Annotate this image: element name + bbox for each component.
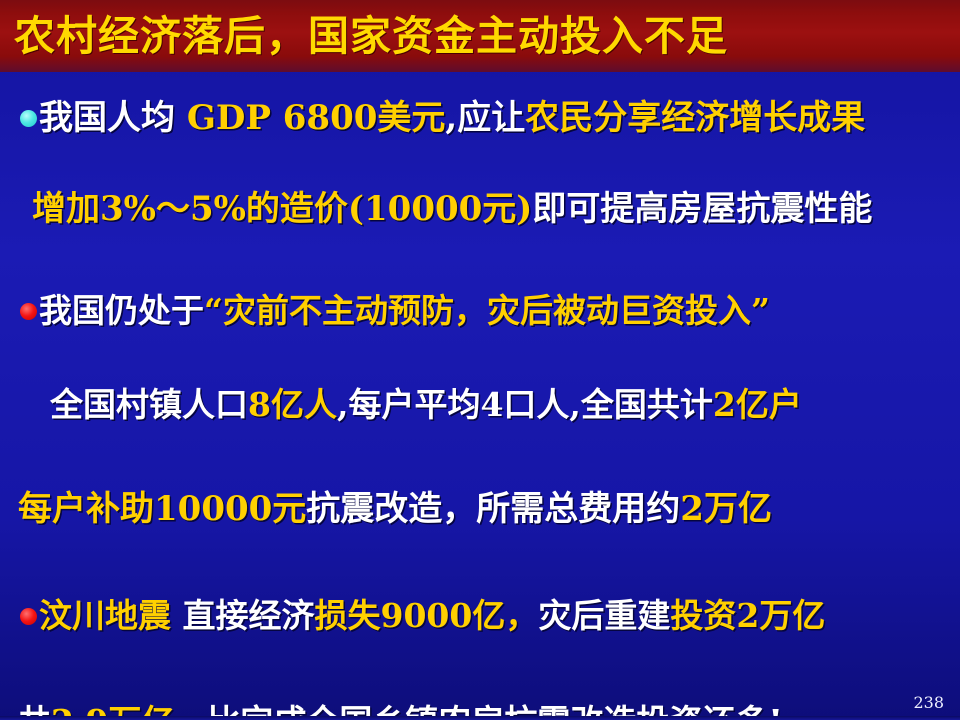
line-6-run-5: 投资2万亿 — [670, 596, 825, 635]
line-2-text: 增加3%～5%的造价(10000元)即可提高房屋抗震性能 — [32, 189, 872, 229]
line-5-run-3: 2万亿 — [680, 489, 772, 529]
bullet-line-1: 我国人均 GDP 6800美元,应让农民分享经济增长成果 — [20, 90, 960, 139]
slide: 农村经济落后，国家资金主动投入不足 我国人均 GDP 6800美元,应让农民分享… — [0, 0, 960, 720]
line-1-run-5: 农民分享经济增长成果 — [525, 98, 865, 138]
cyan-disc-bullet-icon — [20, 110, 37, 127]
line-2-run-1: 增加3%～5%的造价(10000元) — [32, 189, 532, 229]
bullet-line-6: 汶川地震 直接经济损失9000亿，灾后重建投资2万亿 — [20, 589, 960, 637]
line-1-run-1: 我国人均 — [39, 98, 187, 138]
line-6-run-2: 直接经济 — [171, 596, 315, 635]
line-5-run-1: 每户补助10000元 — [18, 489, 306, 529]
line-1-run-2: GDP 6800 — [187, 98, 378, 138]
red-disc-bullet-icon — [20, 608, 37, 625]
line-6-run-3: 损失9000亿， — [315, 596, 539, 635]
line-3-text: 我国仍处于“灾前不主动预防，灾后被动巨资投入” — [39, 291, 770, 330]
slide-bottom-edge — [0, 716, 960, 720]
line-4-run-3: ,每户平均4口人,全国共计 — [337, 385, 713, 424]
red-disc-bullet-icon — [20, 303, 37, 320]
line-5-text: 每户补助10000元抗震改造，所需总费用约2万亿 — [18, 489, 772, 529]
line-5-run-2: 抗震改造，所需总费用约 — [306, 489, 680, 529]
slide-body: 我国人均 GDP 6800美元,应让农民分享经济增长成果 增加3%～5%的造价(… — [0, 74, 960, 557]
line-3-run-1: 我国仍处于 — [39, 291, 204, 330]
line-4-run-4: 2亿户 — [713, 385, 802, 424]
line-6-run-1: 汶川地震 — [39, 596, 171, 635]
slide-title-bar: 农村经济落后，国家资金主动投入不足 — [0, 0, 960, 72]
line-1-run-3: 美元 — [377, 98, 445, 138]
line-3-run-2: “灾前不主动预防，灾后被动巨资投入” — [204, 291, 770, 330]
line-2-run-2: 即可提高房屋抗震性能 — [532, 189, 872, 229]
bullet-line-3: 我国仍处于“灾前不主动预防，灾后被动巨资投入” — [20, 284, 960, 332]
line-1-run-4: ,应让 — [445, 98, 525, 138]
line-4-run-2: 8亿人 — [248, 385, 337, 424]
bullet-line-5: 每户补助10000元抗震改造，所需总费用约2万亿 — [18, 481, 960, 530]
line-4-run-1: 全国村镇人口 — [50, 385, 248, 424]
line-1-text: 我国人均 GDP 6800美元,应让农民分享经济增长成果 — [39, 98, 865, 138]
page-number: 238 — [913, 693, 944, 712]
bullet-line-2: 增加3%～5%的造价(10000元)即可提高房屋抗震性能 — [32, 181, 960, 230]
line-6-text: 汶川地震 直接经济损失9000亿，灾后重建投资2万亿 — [39, 596, 825, 635]
line-4-text: 全国村镇人口8亿人,每户平均4口人,全国共计2亿户 — [50, 385, 802, 424]
page-title: 农村经济落后，国家资金主动投入不足 — [14, 16, 728, 57]
bullet-line-4: 全国村镇人口8亿人,每户平均4口人,全国共计2亿户 — [50, 378, 960, 426]
line-6-run-4: 灾后重建 — [538, 596, 670, 635]
